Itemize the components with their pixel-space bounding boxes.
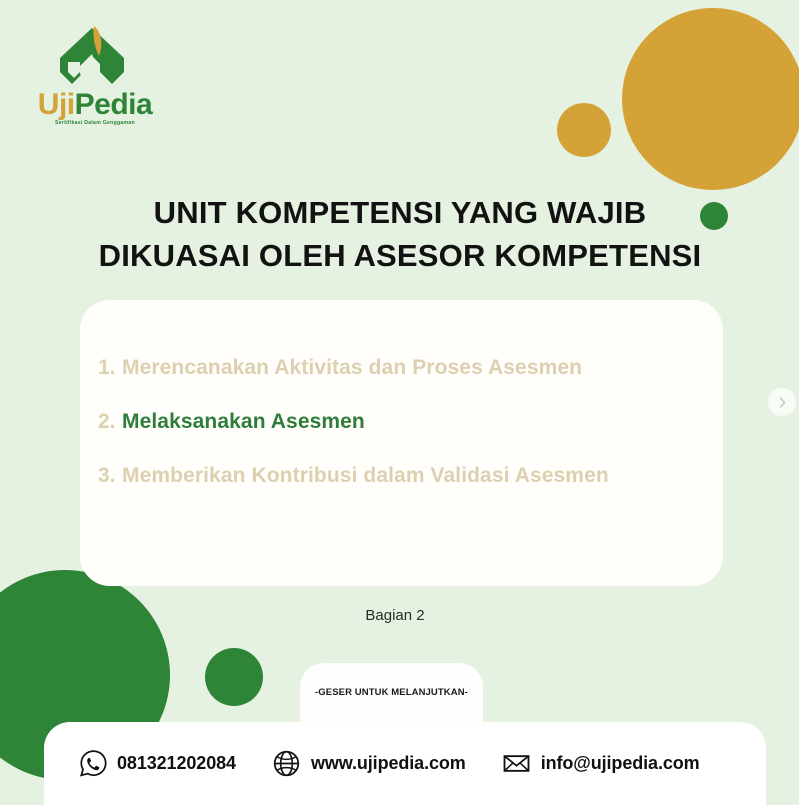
list-item-label: Melaksanakan Asesmen	[122, 410, 365, 434]
decorative-circle-gold-small	[557, 103, 611, 157]
list-item-label: Memberikan Kontribusi dalam Validasi Ase…	[122, 464, 609, 488]
wordmark-pedia: Pedia	[75, 88, 153, 121]
list-item-number: 2.	[98, 410, 122, 434]
list-item: 2. Melaksanakan Asesmen	[98, 410, 718, 434]
contact-website[interactable]: www.ujipedia.com	[272, 749, 466, 779]
decorative-circle-gold-large	[622, 8, 799, 190]
decorative-circle-green-small	[205, 648, 263, 706]
contact-whatsapp[interactable]: 081321202084	[78, 749, 236, 779]
page-title-line-2: DIKUASAI OLEH ASESOR KOMPETENSI	[60, 235, 740, 278]
competency-list: 1. Merencanakan Aktivitas dan Proses Ase…	[98, 356, 718, 518]
contact-website-label: www.ujipedia.com	[311, 753, 466, 774]
whatsapp-icon	[78, 749, 108, 779]
list-item: 1. Merencanakan Aktivitas dan Proses Ase…	[98, 356, 718, 380]
swipe-hint-text: -GESER UNTUK MELANJUTKAN-	[300, 687, 483, 698]
globe-icon	[272, 749, 302, 779]
brand-tagline: Sertifikasi Dalam Genggaman	[32, 120, 158, 126]
page-title-line-1: UNIT KOMPETENSI YANG WAJIB	[60, 192, 740, 235]
list-item-number: 1.	[98, 356, 122, 380]
page-title: UNIT KOMPETENSI YANG WAJIB DIKUASAI OLEH…	[60, 192, 740, 278]
brand-logo: UjiPedia Sertifikasi Dalam Genggaman	[32, 24, 158, 136]
contact-list: 081321202084 www.ujipedia.com	[44, 722, 766, 805]
chevron-right-icon	[776, 396, 789, 409]
list-item-label: Merencanakan Aktivitas dan Proses Asesme…	[122, 356, 582, 380]
brand-wordmark: UjiPedia	[32, 90, 158, 120]
section-label: Bagian 2	[250, 607, 540, 624]
contact-email[interactable]: info@ujipedia.com	[502, 749, 700, 779]
contact-whatsapp-label: 081321202084	[117, 753, 236, 774]
wordmark-uji: Uji	[38, 88, 75, 121]
list-item: 3. Memberikan Kontribusi dalam Validasi …	[98, 464, 718, 488]
content-card: 1. Merencanakan Aktivitas dan Proses Ase…	[80, 300, 723, 586]
envelope-icon	[502, 749, 532, 779]
contact-email-label: info@ujipedia.com	[541, 753, 700, 774]
next-slide-button[interactable]	[768, 388, 796, 416]
slide-canvas: UjiPedia Sertifikasi Dalam Genggaman UNI…	[0, 0, 799, 805]
list-item-number: 3.	[98, 464, 122, 488]
contact-footer-bar: 081321202084 www.ujipedia.com	[44, 722, 766, 805]
ujipedia-monogram-icon	[56, 24, 128, 92]
